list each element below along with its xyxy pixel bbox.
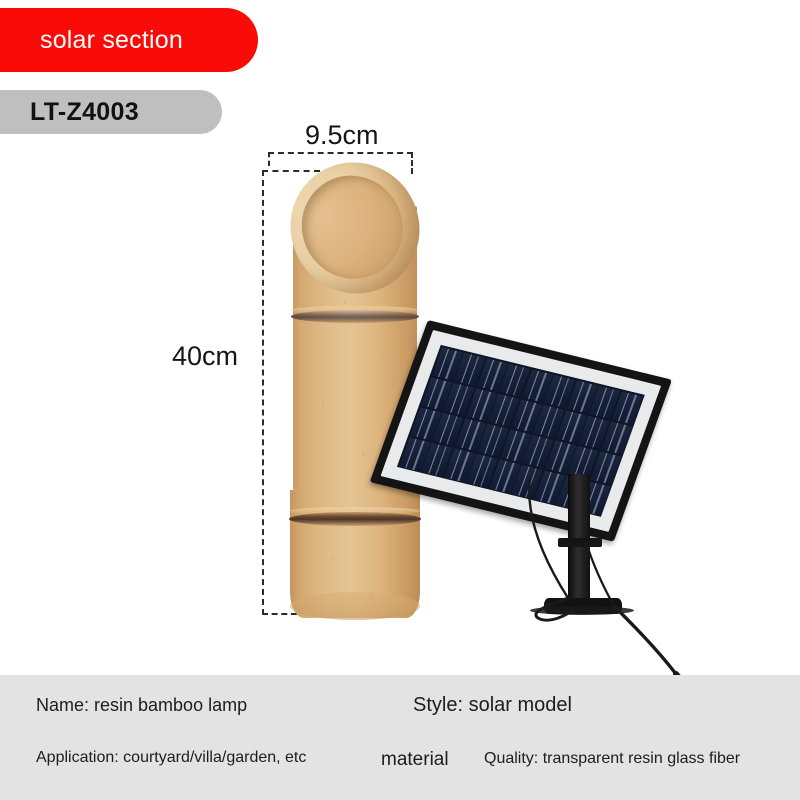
cable-loop [536, 598, 574, 620]
bamboo-bottom-cap [290, 592, 420, 620]
height-dimension-line [262, 170, 264, 615]
footer-quality-text: Quality: transparent resin glass fiber [484, 750, 740, 768]
product-image-canvas: solar section LT-Z4003 9.5cm 40cm [0, 0, 800, 800]
width-dimension-line [268, 152, 413, 154]
footer-application-text: Application: courtyard/villa/garden, etc [36, 749, 306, 767]
bamboo-node-ring-lower [289, 512, 421, 526]
solar-panel-cables [418, 306, 718, 646]
cable-mid [586, 542, 614, 606]
bamboo-node-ring-upper [291, 310, 419, 323]
width-dimension-label: 9.5cm [305, 120, 379, 151]
height-dimension-label: 40cm [172, 341, 238, 372]
product-info-footer [0, 675, 800, 800]
footer-style-text: Style: solar model [413, 694, 572, 717]
model-badge-label: LT-Z4003 [30, 98, 139, 127]
footer-name-text: Name: resin bamboo lamp [36, 695, 247, 716]
cable-out [614, 606, 676, 674]
width-dimension-tick-left [268, 152, 270, 166]
category-badge: solar section [0, 8, 258, 72]
category-badge-label: solar section [40, 26, 183, 55]
cable-left [529, 478, 568, 598]
resin-bamboo-lamp-image [293, 168, 417, 618]
footer-material-text: material [381, 749, 449, 771]
solar-panel-image [418, 306, 718, 646]
model-badge: LT-Z4003 [0, 90, 222, 134]
